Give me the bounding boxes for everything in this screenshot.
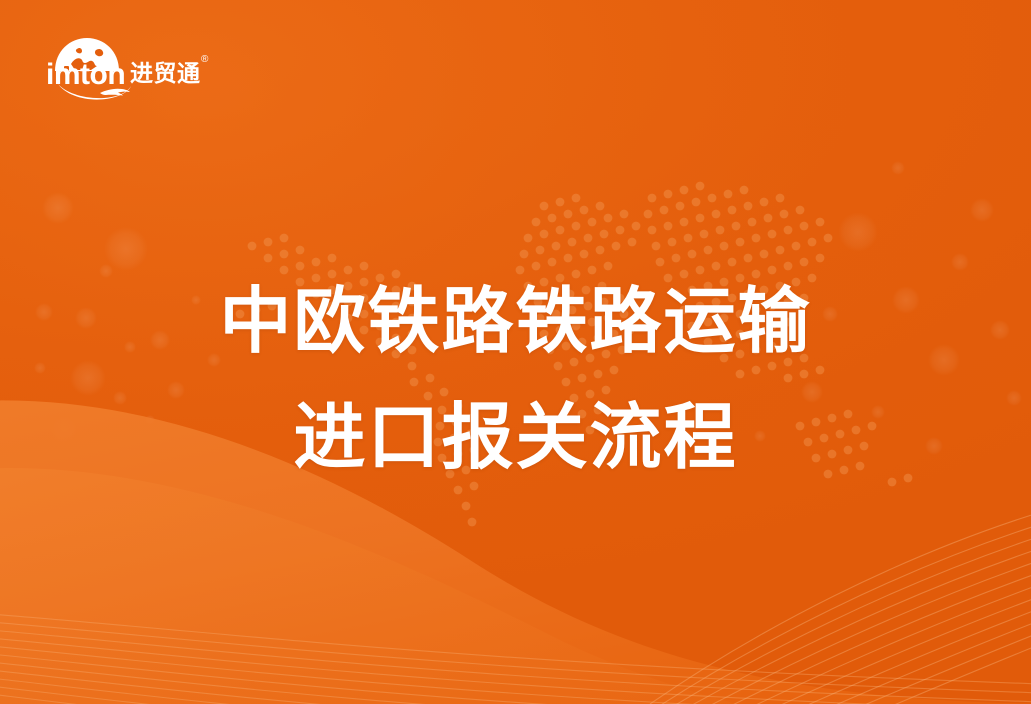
logo-wordmark-latin: imton — [46, 58, 125, 91]
logo-wordmark-chinese: 进贸通 — [130, 60, 201, 86]
brand-logo-graphic: imton 进贸通 ® — [44, 26, 224, 104]
promo-banner: imton 进贸通 ® 中欧铁路铁路运输 进口报关流程 — [0, 0, 1031, 704]
registered-trademark-icon: ® — [201, 54, 209, 65]
background-artwork — [0, 0, 1031, 704]
brand-logo[interactable]: imton 进贸通 ® — [44, 26, 224, 104]
